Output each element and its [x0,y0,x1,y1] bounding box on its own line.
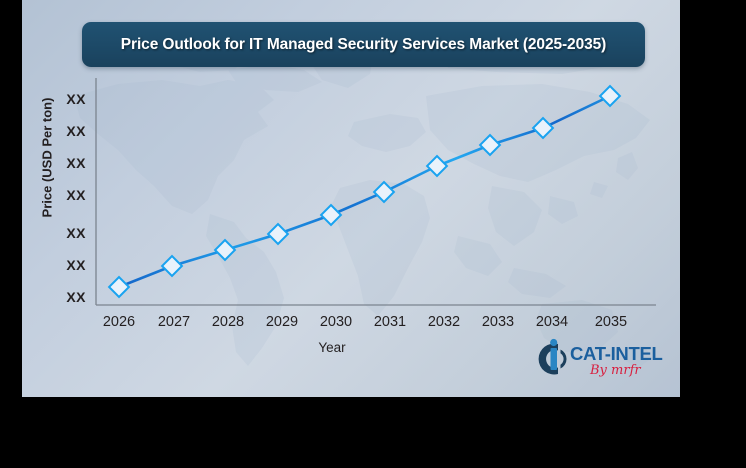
data-point-2027 [162,256,182,276]
y-tick-label: XX [52,123,86,139]
y-tick-label: XX [52,257,86,273]
data-point-2034 [533,118,553,138]
x-tick-label: 2026 [89,314,149,330]
chart-panel: Price Outlook for IT Managed Security Se… [22,0,680,397]
logo-wordmark: CAT-INTEL [570,343,663,365]
data-point-2032 [427,156,447,176]
x-tick-label: 2029 [252,314,312,330]
screenshot-root: Price Outlook for IT Managed Security Se… [0,0,746,468]
data-point-2031 [374,182,394,202]
y-axis-title: Price (USD Per ton) [40,83,55,233]
data-markers [109,86,620,297]
y-tick-label: XX [52,155,86,171]
data-point-2033 [480,135,500,155]
data-point-2030 [321,205,341,225]
x-tick-label: 2034 [522,314,582,330]
x-tick-label: 2032 [414,314,474,330]
x-tick-label: 2035 [581,314,641,330]
x-axis-title: Year [272,340,392,355]
x-tick-label: 2030 [306,314,366,330]
data-point-2035 [600,86,620,106]
data-point-2028 [215,240,235,260]
y-tick-label: XX [52,225,86,241]
x-tick-label: 2033 [468,314,528,330]
y-tick-label: XX [52,187,86,203]
logo-tagline: By mrfr [590,363,641,378]
x-tick-label: 2028 [198,314,258,330]
x-tick-label: 2027 [144,314,204,330]
y-tick-label: XX [52,289,86,305]
data-point-2029 [268,224,288,244]
y-tick-label: XX [52,91,86,107]
x-tick-label: 2031 [360,314,420,330]
data-point-2026 [109,277,129,297]
cat-intel-logo: CAT-INTEL By mrfr [527,336,677,388]
